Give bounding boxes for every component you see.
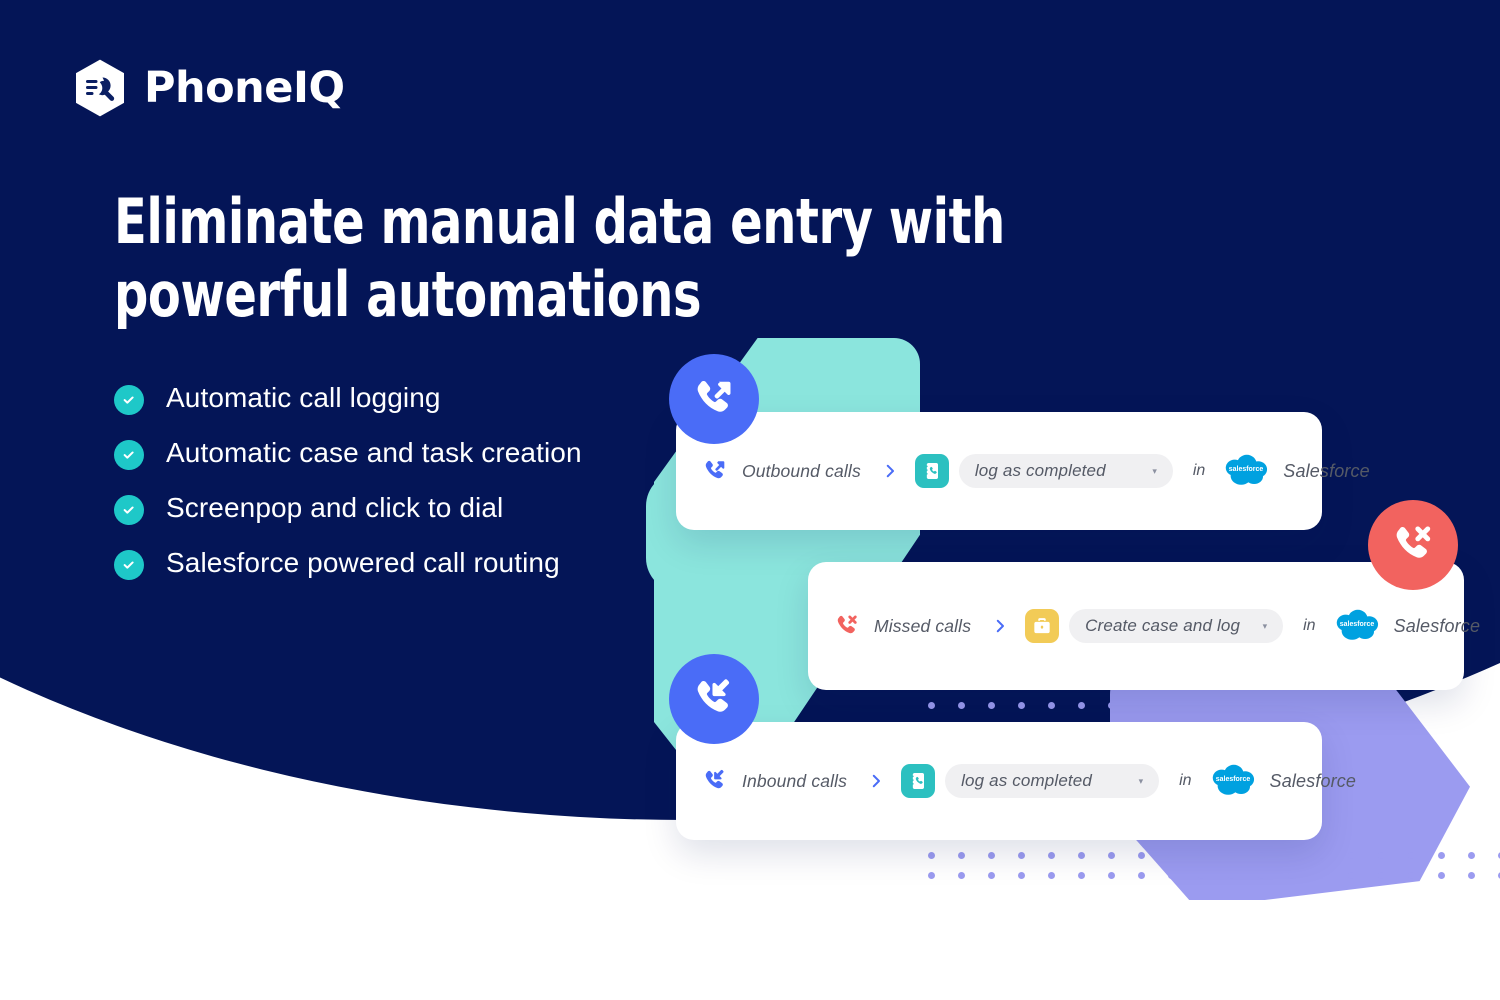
phone-missed-icon <box>834 613 860 639</box>
trigger-label: Outbound calls <box>742 461 861 482</box>
decorative-dot <box>1228 702 1235 709</box>
decorative-dot <box>1198 852 1205 859</box>
decorative-dot <box>1108 852 1115 859</box>
call-status-badge-outbound <box>669 354 759 444</box>
destination-label: Salesforce <box>1270 771 1357 792</box>
decorative-dot <box>958 872 965 879</box>
decorative-dot <box>1138 852 1145 859</box>
chevron-down-icon[interactable]: ▾ <box>1245 622 1268 631</box>
decorative-dot <box>1018 702 1025 709</box>
decorative-dot <box>1078 702 1085 709</box>
decorative-dot <box>1318 852 1325 859</box>
decorative-dot <box>1468 852 1475 859</box>
automation-card-missed[interactable]: Missed callsCreate case and log▾insalesf… <box>808 562 1464 690</box>
decorative-dot <box>1048 702 1055 709</box>
decorative-dot <box>988 702 995 709</box>
feature-list: Automatic call loggingAutomatic case and… <box>114 380 634 600</box>
phoneiq-hexagon-logo-icon <box>72 58 128 118</box>
trigger-label: Inbound calls <box>742 771 847 792</box>
feature-label: Salesforce powered call routing <box>166 545 560 582</box>
action-dropdown[interactable]: log as completed▾ <box>945 764 1159 798</box>
decorative-dot <box>1108 872 1115 879</box>
feature-list-item: Screenpop and click to dial <box>114 490 634 527</box>
feature-label: Automatic call logging <box>166 380 441 417</box>
destination-label: Salesforce <box>1394 616 1481 637</box>
salesforce-cloud-icon: salesforce <box>1208 764 1258 798</box>
decorative-dot <box>988 872 995 879</box>
decorative-dot <box>1048 872 1055 879</box>
action-value: log as completed <box>961 771 1092 791</box>
decorative-dot <box>1408 872 1415 879</box>
feature-list-item: Salesforce powered call routing <box>114 545 634 582</box>
briefcase-case-icon <box>1025 609 1059 643</box>
decorative-dot <box>1288 852 1295 859</box>
call-status-badge-inbound <box>669 654 759 744</box>
chevron-right-icon <box>881 462 899 480</box>
decorative-dot <box>1168 852 1175 859</box>
trigger-label: Missed calls <box>874 616 971 637</box>
page-title: Eliminate manual data entry with powerfu… <box>114 186 888 331</box>
action-dropdown[interactable]: Create case and log▾ <box>1069 609 1283 643</box>
automation-row: Outbound callslog as completed▾insalesfo… <box>676 454 1322 488</box>
decorative-dot <box>1198 872 1205 879</box>
phone-incoming-icon <box>702 768 728 794</box>
chevron-down-icon[interactable]: ▾ <box>1134 467 1157 476</box>
check-circle-icon <box>114 550 144 580</box>
decorative-dot <box>1168 702 1175 709</box>
decorative-dot <box>1288 872 1295 879</box>
decorative-dot <box>928 872 935 879</box>
phone-incoming-icon <box>691 676 737 722</box>
action-value: log as completed <box>975 461 1106 481</box>
headline-line-2: powerful automations <box>114 259 888 332</box>
decorative-dot <box>988 852 995 859</box>
decorative-dot <box>1468 872 1475 879</box>
automation-card-inbound[interactable]: Inbound callslog as completed▾insalesfor… <box>676 722 1322 840</box>
decorative-dot <box>1078 872 1085 879</box>
decorative-dot <box>1258 852 1265 859</box>
decorative-dot <box>1378 872 1385 879</box>
decorative-dot <box>928 702 935 709</box>
decorative-dot <box>1228 852 1235 859</box>
action-value: Create case and log <box>1085 616 1240 636</box>
phone-outgoing-icon <box>702 458 728 484</box>
decorative-dot <box>1138 872 1145 879</box>
decorative-dot <box>1318 872 1325 879</box>
decorative-dot <box>1288 702 1295 709</box>
connector-label: in <box>1179 772 1191 790</box>
decorative-dot <box>958 702 965 709</box>
phone-missed-icon <box>1390 522 1436 568</box>
salesforce-cloud-icon: salesforce <box>1221 454 1271 488</box>
decorative-dot <box>1138 702 1145 709</box>
feature-list-item: Automatic call logging <box>114 380 634 417</box>
decorative-dot <box>1258 872 1265 879</box>
automation-row: Inbound callslog as completed▾insalesfor… <box>676 764 1322 798</box>
svg-text:salesforce: salesforce <box>1215 776 1250 783</box>
chevron-right-icon <box>991 617 1009 635</box>
phone-outgoing-icon <box>691 376 737 422</box>
automation-card-outbound[interactable]: Outbound callslog as completed▾insalesfo… <box>676 412 1322 530</box>
check-circle-icon <box>114 385 144 415</box>
automation-row: Missed callsCreate case and log▾insalesf… <box>808 609 1464 643</box>
feature-label: Automatic case and task creation <box>166 435 582 472</box>
call-log-book-icon <box>915 454 949 488</box>
decorative-dot <box>1438 852 1445 859</box>
decorative-dot <box>1078 852 1085 859</box>
svg-text:salesforce: salesforce <box>1229 466 1264 473</box>
salesforce-cloud-icon: salesforce <box>1332 609 1382 643</box>
dot-grid-bottom-row-2 <box>928 872 1500 879</box>
chevron-down-icon[interactable]: ▾ <box>1121 777 1144 786</box>
decorative-dot <box>1108 702 1115 709</box>
decorative-dot <box>928 852 935 859</box>
promo-graphic: PhoneIQ Eliminate manual data entry with… <box>0 0 1500 1000</box>
brand-logo[interactable]: PhoneIQ <box>72 58 345 118</box>
dot-grid-bottom-row-1 <box>928 852 1500 859</box>
decorative-dot <box>1438 872 1445 879</box>
decorative-dot <box>1198 702 1205 709</box>
connector-label: in <box>1193 462 1205 480</box>
decorative-dot <box>1228 872 1235 879</box>
call-log-book-icon <box>901 764 935 798</box>
check-circle-icon <box>114 440 144 470</box>
decorative-dot <box>1168 872 1175 879</box>
decorative-dot <box>1348 852 1355 859</box>
call-status-badge-missed <box>1368 500 1458 590</box>
svg-text:salesforce: salesforce <box>1339 621 1374 628</box>
chevron-right-icon <box>867 772 885 790</box>
decorative-dot <box>958 852 965 859</box>
decorative-dot <box>1258 702 1265 709</box>
action-dropdown[interactable]: log as completed▾ <box>959 454 1173 488</box>
decorative-dot <box>1378 852 1385 859</box>
brand-name: PhoneIQ <box>144 63 345 113</box>
check-circle-icon <box>114 495 144 525</box>
dot-grid-middle <box>928 702 1295 709</box>
connector-label: in <box>1303 617 1315 635</box>
decorative-dot <box>1348 872 1355 879</box>
decorative-dot <box>1408 852 1415 859</box>
feature-list-item: Automatic case and task creation <box>114 435 634 472</box>
decorative-dot <box>1018 852 1025 859</box>
decorative-dot <box>1018 872 1025 879</box>
destination-label: Salesforce <box>1283 461 1370 482</box>
feature-label: Screenpop and click to dial <box>166 490 503 527</box>
decorative-dot <box>1048 852 1055 859</box>
headline-line-1: Eliminate manual data entry with <box>114 186 888 259</box>
